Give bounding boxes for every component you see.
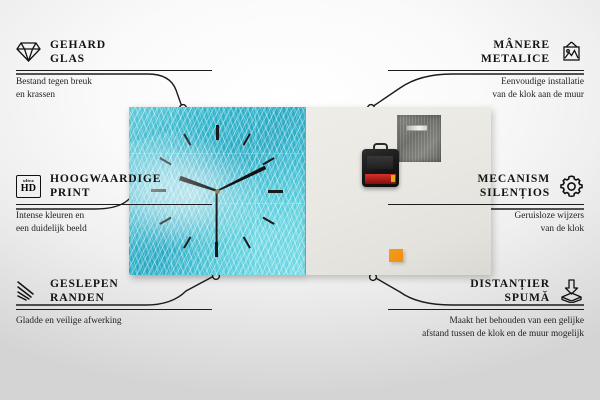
ultra-hd-icon: ultra HD [16, 174, 41, 199]
feature-title: GESLEPENRANDEN [50, 277, 119, 305]
diamond-icon [16, 40, 41, 65]
divider [16, 309, 212, 310]
divider [388, 204, 584, 205]
clock-second-hand [216, 191, 218, 247]
feature-description: Gladde en veilige afwerking [16, 315, 212, 328]
hd-label: HD [21, 184, 37, 194]
beveled-edges-icon [16, 279, 41, 304]
spacer-arrow-icon [559, 279, 584, 304]
feature-description: Geruisloze wijzersvan de klok [388, 210, 584, 235]
feature-title: DISTANȚIERSPUMĂ [470, 277, 550, 305]
infographic-canvas: GEHARDGLAS Bestand tegen breuken krassen… [0, 0, 600, 400]
feature-distantier-spuma: DISTANȚIERSPUMĂ Maakt het behouden van e… [388, 277, 584, 340]
clock-center-pin [215, 189, 220, 194]
feature-title: HOOGWAARDIGEPRINT [50, 172, 161, 200]
feature-title: GEHARDGLAS [50, 38, 106, 66]
divider [388, 309, 584, 310]
feature-description: Bestand tegen breuken krassen [16, 76, 212, 101]
feature-hoogwaardige-print: ultra HD HOOGWAARDIGEPRINT Intense kleur… [16, 172, 212, 235]
feature-description: Maakt het behouden van een gelijkeafstan… [388, 315, 584, 340]
picture-hanger-icon [559, 40, 584, 65]
foam-spacer [389, 249, 403, 262]
divider [16, 204, 212, 205]
metal-hanger-plate [397, 115, 441, 162]
feature-manere-metalice: MÂNEREMETALICE Eenvoudige installatievan… [388, 38, 584, 101]
feature-mecanism-silentios: MECANISMSILENȚIOS Geruisloze wijzersvan … [388, 172, 584, 235]
feature-geslepen-randen: GESLEPENRANDEN Gladde en veilige afwerki… [16, 277, 212, 328]
feature-gehard-glas: GEHARDGLAS Bestand tegen breuken krassen [16, 38, 212, 101]
gear-icon [559, 174, 584, 199]
hanger-hook [373, 143, 388, 152]
divider [16, 70, 212, 71]
panel-seam [305, 107, 306, 275]
feature-description: Eenvoudige installatievan de klok aan de… [388, 76, 584, 101]
clock-minute-hand [216, 166, 266, 193]
divider [388, 70, 584, 71]
feature-title: MECANISMSILENȚIOS [478, 172, 551, 200]
feature-description: Intense kleuren eneen duidelijk beeld [16, 210, 212, 235]
feature-title: MÂNEREMETALICE [481, 38, 550, 66]
